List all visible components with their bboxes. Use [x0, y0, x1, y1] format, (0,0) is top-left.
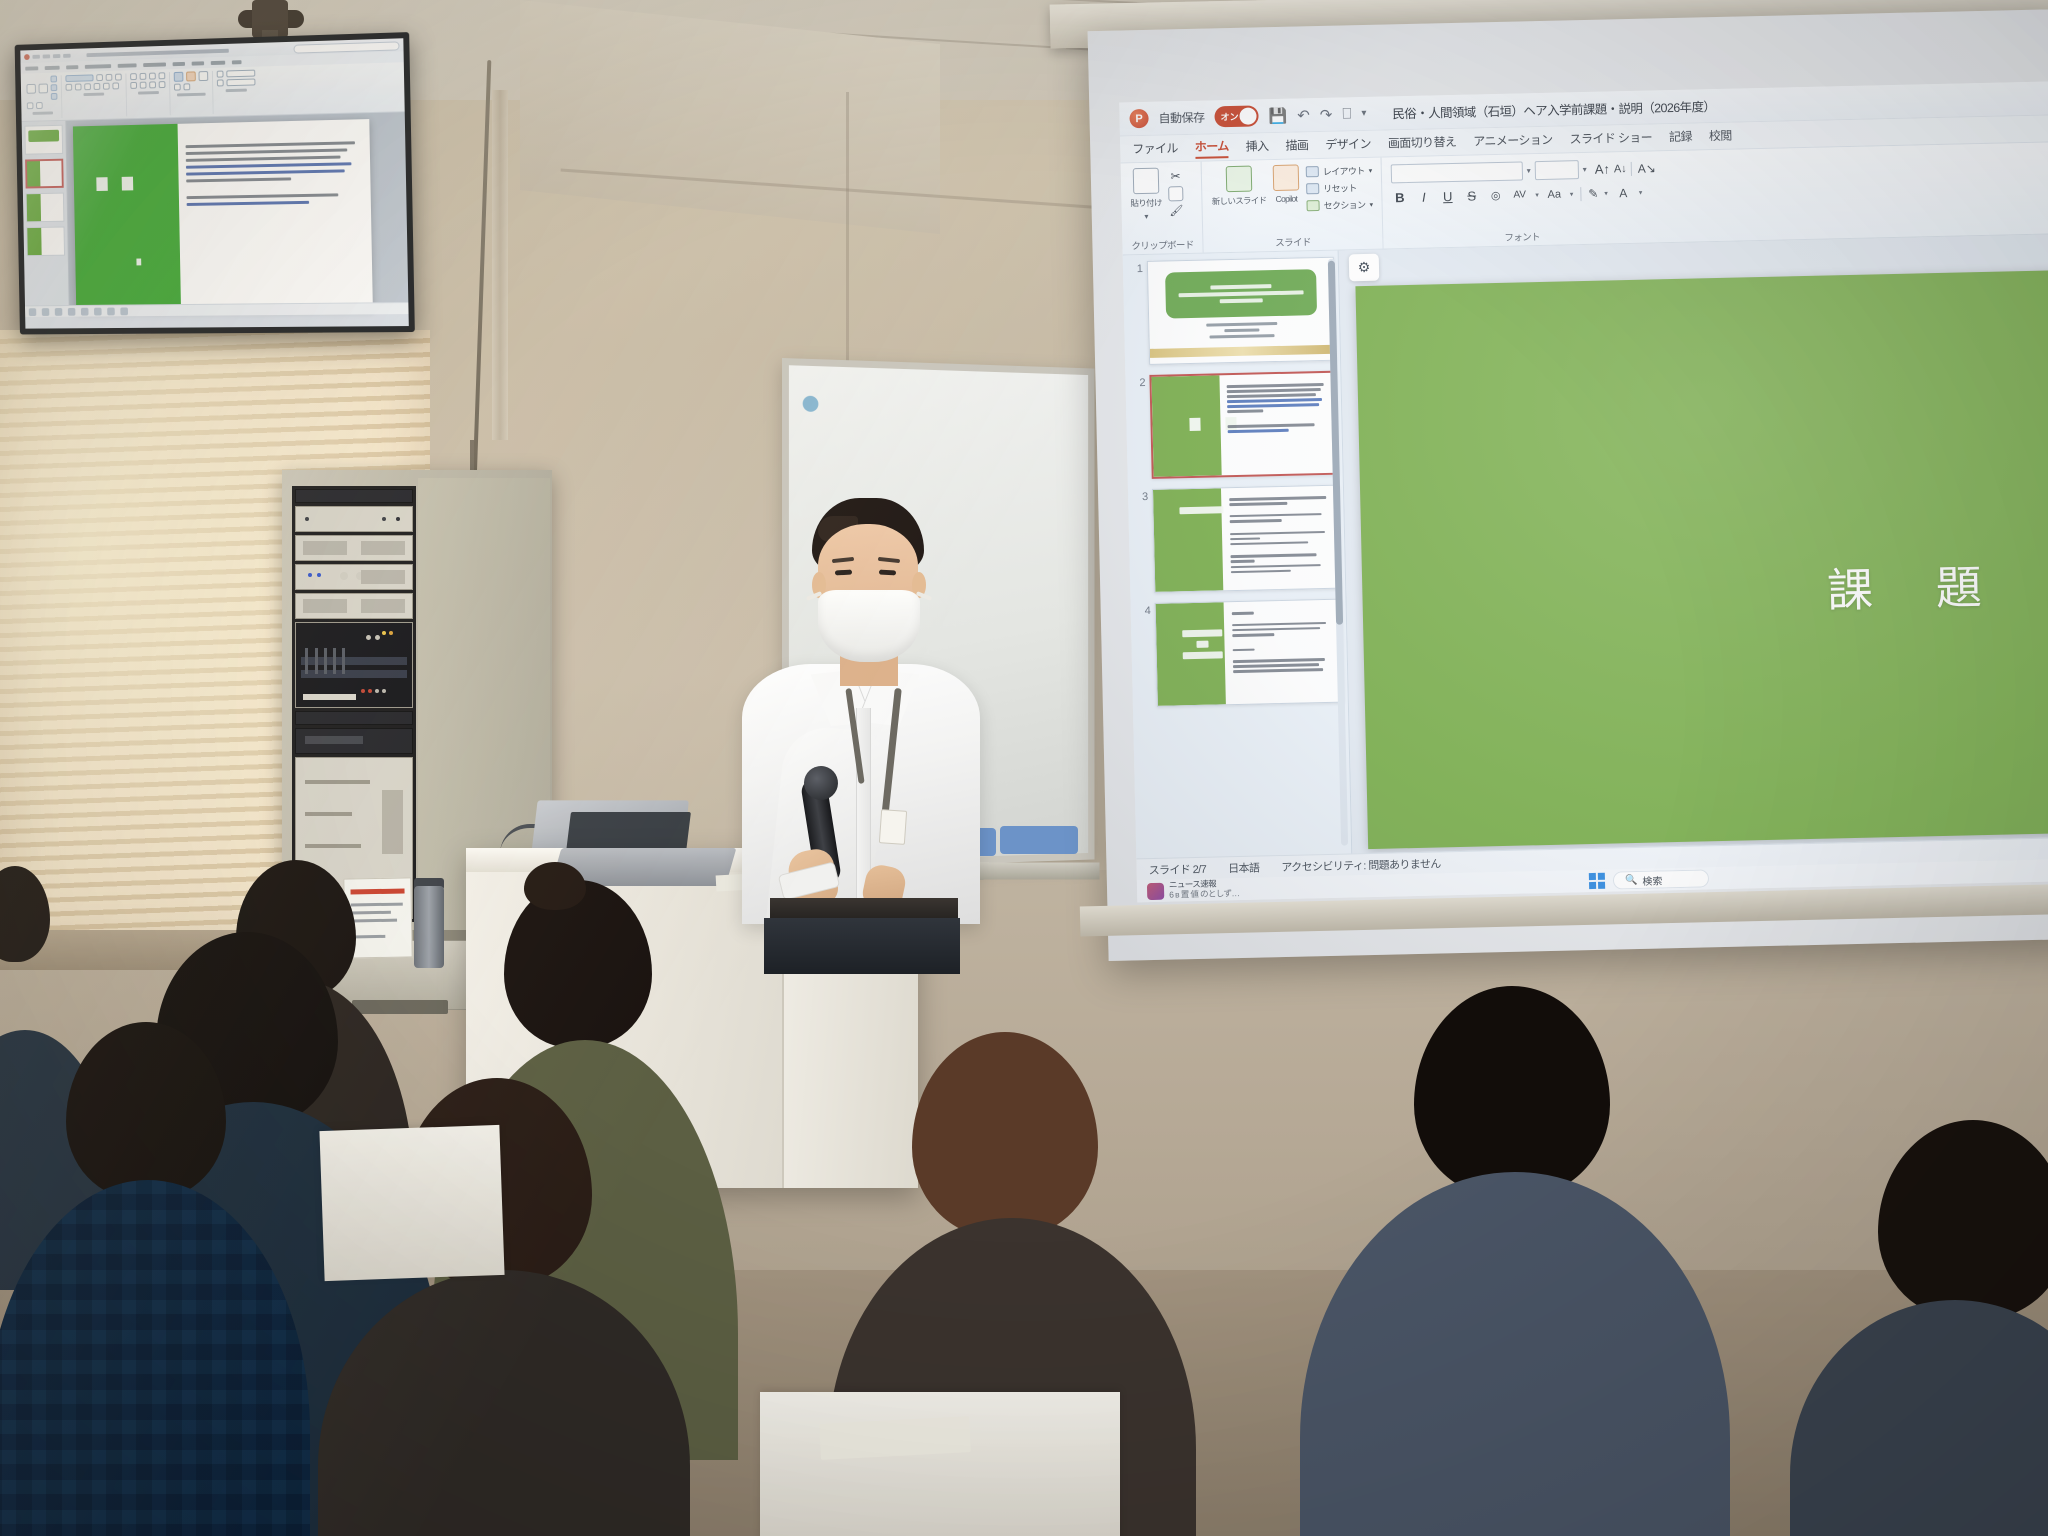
- audio-mixer: [295, 622, 413, 708]
- document-title: 民俗・人間領域（石垣）ヘア入学前課題・説明（2026年度）: [1392, 96, 1715, 122]
- highlight-icon[interactable]: ✎: [1580, 186, 1597, 200]
- tv-screen: [20, 38, 408, 328]
- rack-unit-amplifier: [295, 535, 413, 561]
- tv-slide-body: [178, 119, 373, 310]
- present-icon[interactable]: ⎕: [1342, 105, 1351, 122]
- new-slide-label: 新しいスライド: [1212, 194, 1267, 207]
- slide2-title-panel: [1151, 375, 1221, 477]
- font-name-input[interactable]: [1391, 161, 1523, 183]
- font-size-input[interactable]: [1535, 160, 1579, 180]
- slide-thumbnail-pane: 1: [1123, 251, 1353, 859]
- tv-status-bar: [25, 302, 409, 317]
- rack-unit-amplifier: [295, 506, 413, 532]
- slide-counter[interactable]: スライド 2/7: [1148, 860, 1206, 877]
- presenter-eye-right: [879, 570, 896, 576]
- undo-icon[interactable]: ↶: [1297, 106, 1310, 124]
- thumbnail-number: 2: [1127, 375, 1147, 479]
- tv-thumbnail-3: [26, 193, 65, 223]
- tab-review[interactable]: 校閲: [1709, 126, 1732, 146]
- more-icon[interactable]: ▾: [1361, 108, 1366, 119]
- tab-slideshow[interactable]: スライド ショー: [1569, 128, 1652, 149]
- tab-animations[interactable]: アニメーション: [1473, 130, 1553, 151]
- tv-qat-icon: [32, 54, 39, 58]
- slide1-subtitle: [1201, 322, 1283, 339]
- tv-qat-icon: [43, 54, 51, 58]
- news-widget[interactable]: ニュース速報 6 в 置 値 のとしず…: [1147, 879, 1240, 901]
- stacked-chair: [1000, 826, 1078, 854]
- face-mask: [818, 590, 920, 662]
- paste-label: 貼り付け: [1130, 197, 1161, 210]
- change-case-dropdown-icon[interactable]: ▾: [1570, 190, 1574, 198]
- student-desk: [760, 1392, 1120, 1536]
- thumbnail-number: 4: [1133, 603, 1153, 707]
- slide-thumbnail-2[interactable]: [1149, 371, 1338, 479]
- underline-button[interactable]: U: [1439, 189, 1456, 204]
- strikethrough-button[interactable]: S: [1463, 188, 1480, 203]
- wall-conduit: [492, 90, 508, 440]
- autosave-label: 自動保存: [1158, 109, 1204, 127]
- character-spacing-dropdown-icon[interactable]: ▾: [1535, 191, 1539, 199]
- presenter-eye-left: [835, 570, 852, 576]
- ribbon-group-clipboard: 貼り付け ▾ ✂ 🖌 クリップボード: [1121, 162, 1204, 255]
- tv-slide-title-panel: [73, 124, 181, 311]
- paste-icon[interactable]: [1132, 168, 1159, 195]
- clear-formatting-icon[interactable]: A↘: [1631, 161, 1656, 176]
- rack-unit-blank: [295, 711, 413, 725]
- text-shadow-icon[interactable]: ◎: [1487, 189, 1504, 202]
- section-label: セクション: [1323, 198, 1365, 212]
- thumbnail-row[interactable]: 1: [1125, 257, 1336, 366]
- autosave-toggle[interactable]: オン: [1214, 105, 1258, 127]
- taskbar-search-box[interactable]: 🔍 検索: [1613, 869, 1709, 889]
- reset-label: リセット: [1323, 181, 1357, 195]
- workspace: 1: [1123, 233, 2048, 859]
- slide-thumbnail-1[interactable]: [1147, 257, 1336, 365]
- tv-slide-area: [22, 112, 409, 317]
- section-button[interactable]: セクション ▾: [1306, 198, 1372, 212]
- presenter-trousers: [764, 918, 960, 974]
- font-name-dropdown-icon[interactable]: ▾: [1527, 166, 1531, 175]
- tab-draw[interactable]: 描画: [1285, 136, 1308, 156]
- character-spacing-icon[interactable]: AV: [1511, 189, 1528, 200]
- decrease-font-size-icon[interactable]: A↓: [1614, 163, 1627, 175]
- copy-icon[interactable]: [1168, 186, 1183, 201]
- tab-file[interactable]: ファイル: [1132, 139, 1178, 159]
- id-badge: [879, 809, 907, 845]
- copilot-label: Copilot: [1275, 194, 1297, 204]
- new-slide-icon[interactable]: [1225, 166, 1252, 193]
- change-case-icon[interactable]: Aa: [1546, 188, 1563, 200]
- reset-icon: [1306, 183, 1319, 194]
- tv-thumbnail-2: [25, 159, 64, 189]
- wall-mounted-display: [15, 32, 415, 334]
- tv-thumbnail-1: [24, 125, 63, 155]
- news-subtitle: 6 в 置 値 のとしず…: [1169, 889, 1239, 900]
- redo-icon[interactable]: ↷: [1320, 105, 1333, 123]
- slide-thumbnail-4[interactable]: [1155, 599, 1344, 707]
- italic-button[interactable]: I: [1415, 189, 1432, 204]
- highlight-dropdown-icon[interactable]: ▾: [1604, 189, 1608, 197]
- tab-insert[interactable]: 挿入: [1245, 137, 1268, 157]
- slide4-title-text: [1182, 629, 1223, 659]
- slides-group-title: スライド: [1213, 231, 1374, 251]
- current-slide-canvas[interactable]: 課 題: [1355, 263, 2048, 849]
- tab-design[interactable]: デザイン: [1325, 134, 1371, 154]
- increase-font-size-icon[interactable]: A↑: [1595, 161, 1611, 176]
- thumbnail-number: 3: [1130, 489, 1150, 593]
- audience-hair-bun: [524, 862, 586, 910]
- copilot-icon[interactable]: [1273, 164, 1300, 191]
- tv-qat-icon: [63, 53, 71, 57]
- thumbnail-row[interactable]: 3: [1130, 485, 1341, 594]
- tv-current-slide: [73, 119, 373, 311]
- font-color-dropdown-icon[interactable]: ▾: [1639, 188, 1643, 196]
- av-rack-bay: [292, 486, 416, 922]
- tv-app-icon: [24, 54, 30, 60]
- ribbon-group-font: ▾ ▾ A↑ A↓ A↘ B I U S ◎: [1381, 141, 2048, 249]
- tv-thumbnail-4: [26, 227, 65, 257]
- slide3-title-panel: [1153, 488, 1224, 592]
- cut-icon[interactable]: ✂: [1170, 169, 1180, 183]
- tab-record[interactable]: 記録: [1669, 127, 1692, 147]
- slide-title-text: 課 題: [1826, 550, 2006, 620]
- news-icon: [1147, 882, 1164, 899]
- bold-button[interactable]: B: [1391, 190, 1408, 205]
- rack-unit-player: [295, 728, 413, 754]
- av-rack-drawer-handle: [352, 1000, 448, 1014]
- tab-home[interactable]: ホーム: [1195, 137, 1229, 159]
- thumbnail-number: 1: [1125, 261, 1145, 365]
- save-icon[interactable]: 💾: [1268, 106, 1287, 124]
- designer-icon[interactable]: ⚙: [1349, 254, 1380, 282]
- ribbon-group-slides: 新しいスライド Copilot レイアウト ▾: [1202, 158, 1384, 253]
- student-desk: [319, 1125, 504, 1281]
- slide3-title-text: [1179, 507, 1223, 515]
- tab-transitions[interactable]: 画面切り替え: [1388, 132, 1457, 153]
- slide2-title-char: [1189, 418, 1200, 431]
- search-icon: 🔍: [1625, 874, 1638, 885]
- water-bottle: [414, 886, 444, 968]
- powerpoint-icon: P: [1129, 109, 1148, 128]
- font-size-dropdown-icon[interactable]: ▾: [1583, 165, 1587, 174]
- rack-unit-tuner: [295, 564, 413, 590]
- whiteboard-magnet: [803, 396, 819, 412]
- tv-title-char: [97, 177, 109, 191]
- slide-editor: ⚙ 課 題: [1339, 233, 2048, 854]
- layout-button[interactable]: レイアウト ▾: [1306, 164, 1372, 178]
- clipboard-group-title: クリップボード: [1131, 235, 1194, 252]
- rack-unit-blank: [295, 489, 413, 503]
- font-group-title: フォント: [1392, 224, 1652, 246]
- presenter: [736, 498, 986, 918]
- section-icon: [1306, 200, 1319, 211]
- layout-icon: [1306, 166, 1319, 177]
- slide-thumbnail-3[interactable]: [1152, 485, 1341, 593]
- windows-start-icon[interactable]: [1589, 873, 1605, 889]
- thumbnail-row[interactable]: 2: [1127, 371, 1338, 480]
- slide1-gold-band: [1150, 345, 1335, 358]
- tv-qat-icon: [53, 54, 61, 58]
- paste-dropdown-icon[interactable]: ▾: [1144, 212, 1148, 221]
- rack-unit-amplifier: [295, 593, 413, 619]
- language-indicator[interactable]: 日本語: [1228, 859, 1260, 876]
- layout-label: レイアウト: [1323, 164, 1365, 178]
- slide1-title-box: [1165, 269, 1318, 318]
- slide2-body: [1227, 383, 1328, 469]
- thumbnail-row[interactable]: 4: [1133, 599, 1344, 708]
- slide3-body: [1229, 496, 1331, 584]
- search-placeholder: 検索: [1642, 872, 1662, 887]
- reset-button[interactable]: リセット: [1306, 181, 1357, 195]
- classroom-scene: P 自動保存 オン 💾 ↶ ↷ ⎕ ▾ 民俗・人間領域（石垣）ヘア入学前課題・説…: [0, 0, 2048, 1536]
- tv-title-char: [122, 177, 134, 191]
- autosave-toggle-knob: [1239, 107, 1256, 124]
- tv-slide-marker: [136, 258, 141, 265]
- powerpoint-window: P 自動保存 オン 💾 ↶ ↷ ⎕ ▾ 民俗・人間領域（石垣）ヘア入学前課題・説…: [1119, 80, 2048, 902]
- wall-seam: [846, 92, 849, 382]
- tv-thumbnail-pane: [22, 121, 70, 317]
- autosave-toggle-state: オン: [1220, 110, 1238, 123]
- tv-title-text: [86, 48, 228, 56]
- font-color-icon[interactable]: A: [1615, 185, 1632, 199]
- accessibility-status[interactable]: アクセシビリティ: 問題ありません: [1281, 855, 1441, 875]
- slide4-body: [1232, 610, 1334, 698]
- projection-screen: P 自動保存 オン 💾 ↶ ↷ ⎕ ▾ 民俗・人間領域（石垣）ヘア入学前課題・説…: [1088, 9, 2048, 961]
- format-painter-icon[interactable]: 🖌: [1169, 204, 1183, 217]
